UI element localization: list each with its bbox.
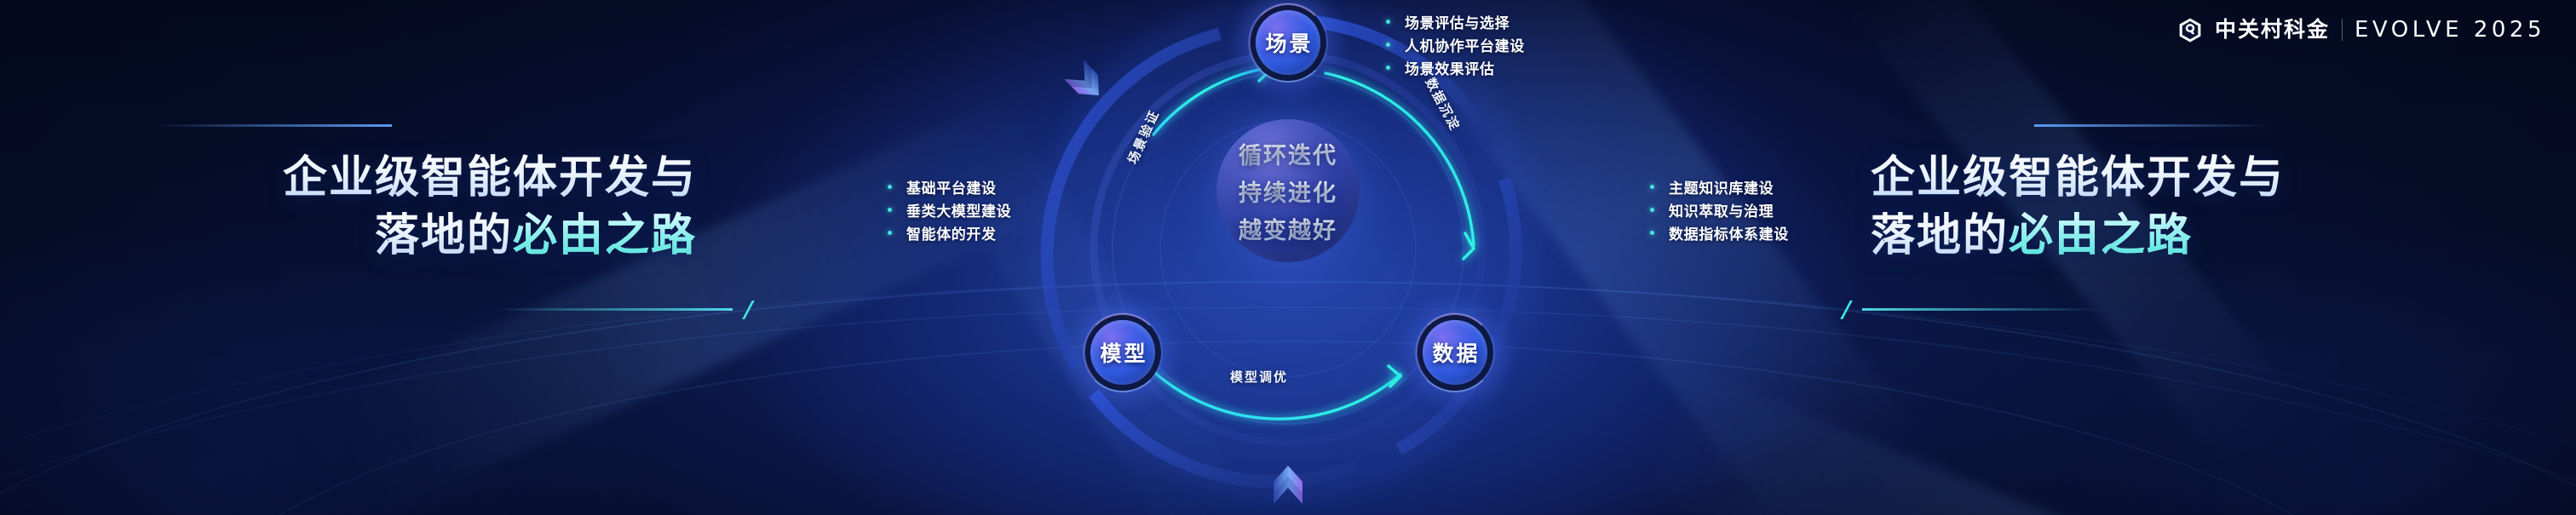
node-scene[interactable]: 场景 xyxy=(1256,10,1320,75)
page-title-left: 企业级智能体开发与 落地的必由之路 xyxy=(152,150,697,265)
title-line-2-plain: 落地的 xyxy=(1871,211,2009,260)
list-item: 人机协作平台建设 xyxy=(1386,33,1525,56)
core-line-2: 持续进化 xyxy=(1239,175,1337,208)
bullet-dot-icon xyxy=(1386,20,1390,24)
list-item: 主题知识库建设 xyxy=(1650,175,1789,198)
bullet-dot-icon xyxy=(1650,185,1654,189)
decor-rule-top-right xyxy=(2034,124,2273,127)
cycle-diagram: 循环迭代 持续进化 越变越好 场景 模型 数据 场景验证 数据沉淀 模型调优 xyxy=(879,0,1697,515)
list-item: 智能体的开发 xyxy=(888,221,1011,244)
core-line-1: 循环迭代 xyxy=(1239,137,1337,170)
bullets-model: 基础平台建设 垂类大模型建设 智能体的开发 xyxy=(888,175,1011,244)
core-line-3: 越变越好 xyxy=(1239,212,1337,245)
node-data[interactable]: 数据 xyxy=(1423,320,1487,385)
bullet-dot-icon xyxy=(1650,208,1654,212)
title-line-2: 落地的必由之路 xyxy=(152,208,697,266)
title-line-2-accent: 必由之路 xyxy=(513,211,697,260)
list-item-label: 场景效果评估 xyxy=(1405,57,1495,78)
bullet-dot-icon xyxy=(1386,66,1390,70)
bullets-data: 主题知识库建设 知识萃取与治理 数据指标体系建设 xyxy=(1650,175,1789,244)
title-line-1: 企业级智能体开发与 xyxy=(1871,150,2416,208)
ring-label-model-tuning: 模型调优 xyxy=(1230,368,1288,386)
title-line-2: 落地的必由之路 xyxy=(1871,208,2416,266)
event-name: EVOLVE 2025 xyxy=(2355,17,2545,43)
decor-rule-bottom-right xyxy=(494,308,733,311)
list-item: 场景评估与选择 xyxy=(1386,10,1525,33)
bullet-dot-icon xyxy=(1650,231,1654,235)
brand-name: 中关村科金 xyxy=(2215,20,2330,41)
bullet-dot-icon xyxy=(888,208,892,212)
list-item-label: 智能体的开发 xyxy=(906,222,997,243)
decor-rule-top-left xyxy=(153,124,392,127)
list-item-label: 基础平台建设 xyxy=(906,176,997,197)
decor-rule-bottom-left xyxy=(1862,308,2101,311)
brand-logo: 中关村科金 EVOLVE 2025 xyxy=(2177,15,2545,44)
list-item: 基础平台建设 xyxy=(888,175,1011,198)
list-item: 垂类大模型建设 xyxy=(888,198,1011,221)
bullet-dot-icon xyxy=(1386,43,1390,47)
cube-hexagon-icon xyxy=(2177,17,2203,43)
list-item-label: 场景评估与选择 xyxy=(1405,11,1509,32)
title-line-2-plain: 落地的 xyxy=(375,211,513,260)
bullet-dot-icon xyxy=(888,231,892,235)
title-line-2-accent: 必由之路 xyxy=(2009,211,2193,260)
logo-divider xyxy=(2342,19,2343,41)
list-item-label: 垂类大模型建设 xyxy=(906,199,1011,220)
node-model[interactable]: 模型 xyxy=(1090,320,1155,385)
bullet-dot-icon xyxy=(888,185,892,189)
title-line-1: 企业级智能体开发与 xyxy=(152,150,697,208)
list-item-label: 知识萃取与治理 xyxy=(1669,199,1774,220)
list-item: 场景效果评估 xyxy=(1386,56,1525,79)
bullets-scene: 场景评估与选择 人机协作平台建设 场景效果评估 xyxy=(1386,10,1525,79)
list-item-label: 人机协作平台建设 xyxy=(1405,34,1525,55)
list-item: 数据指标体系建设 xyxy=(1650,221,1789,244)
list-item-label: 数据指标体系建设 xyxy=(1669,222,1789,243)
page-title-right: 企业级智能体开发与 落地的必由之路 xyxy=(1871,150,2416,265)
list-item-label: 主题知识库建设 xyxy=(1669,176,1774,197)
list-item: 知识萃取与治理 xyxy=(1650,198,1789,221)
cycle-core: 循环迭代 持续进化 越变越好 xyxy=(1216,119,1360,262)
